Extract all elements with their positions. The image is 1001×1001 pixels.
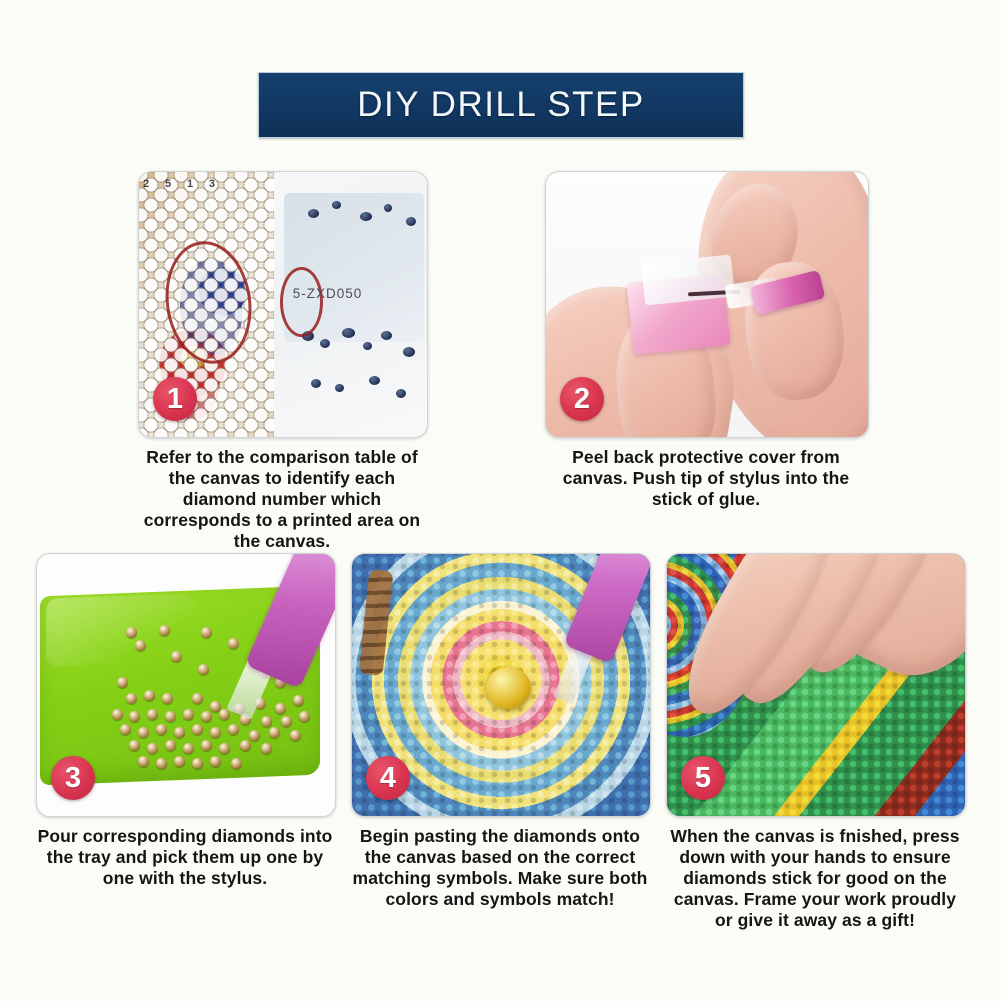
step-badge-1: 1 [153, 377, 197, 421]
drill-bag-label: 5-ZXD050 [293, 286, 363, 301]
step-4-caption: Begin pasting the diamonds onto the canv… [351, 826, 649, 910]
mandala-center-gem [486, 667, 531, 709]
bag-label-highlight-circle [280, 267, 323, 337]
step-1-caption: Refer to the comparison table of the can… [138, 447, 426, 552]
step-2-image: 2 [545, 171, 869, 438]
step-2-panel: 2 Peel back protective cover from canvas… [545, 171, 867, 436]
step-5-caption: When the canvas is fnished, press down w… [666, 826, 964, 931]
step-badge-5: 5 [681, 756, 725, 800]
page-title-banner: DIY DRILL STEP [258, 72, 744, 138]
step-1-panel: 2 5 1 3 [138, 171, 426, 436]
diy-drill-step-infographic: DIY DRILL STEP 2 5 1 3 [0, 0, 1001, 1001]
step-badge-4: 4 [366, 756, 410, 800]
step-4-image: 4 [351, 553, 651, 817]
step-5-image: 5 [666, 553, 966, 817]
step-2-caption: Peel back protective cover from canvas. … [545, 447, 867, 510]
step-4-panel: 4 Begin pasting the diamonds onto the ca… [351, 553, 649, 815]
step-badge-2: 2 [560, 377, 604, 421]
page-title: DIY DRILL STEP [357, 85, 644, 125]
step-1-image: 2 5 1 3 [138, 171, 428, 438]
step-3-image: 3 [36, 553, 336, 817]
step-3-panel: 3 Pour corresponding diamonds into the t… [36, 553, 334, 815]
step-5-panel: 5 When the canvas is fnished, press down… [666, 553, 964, 815]
drill-bag: 5-ZXD050 [274, 172, 427, 437]
step-3-caption: Pour corresponding diamonds into the tra… [36, 826, 334, 889]
step-badge-3: 3 [51, 756, 95, 800]
